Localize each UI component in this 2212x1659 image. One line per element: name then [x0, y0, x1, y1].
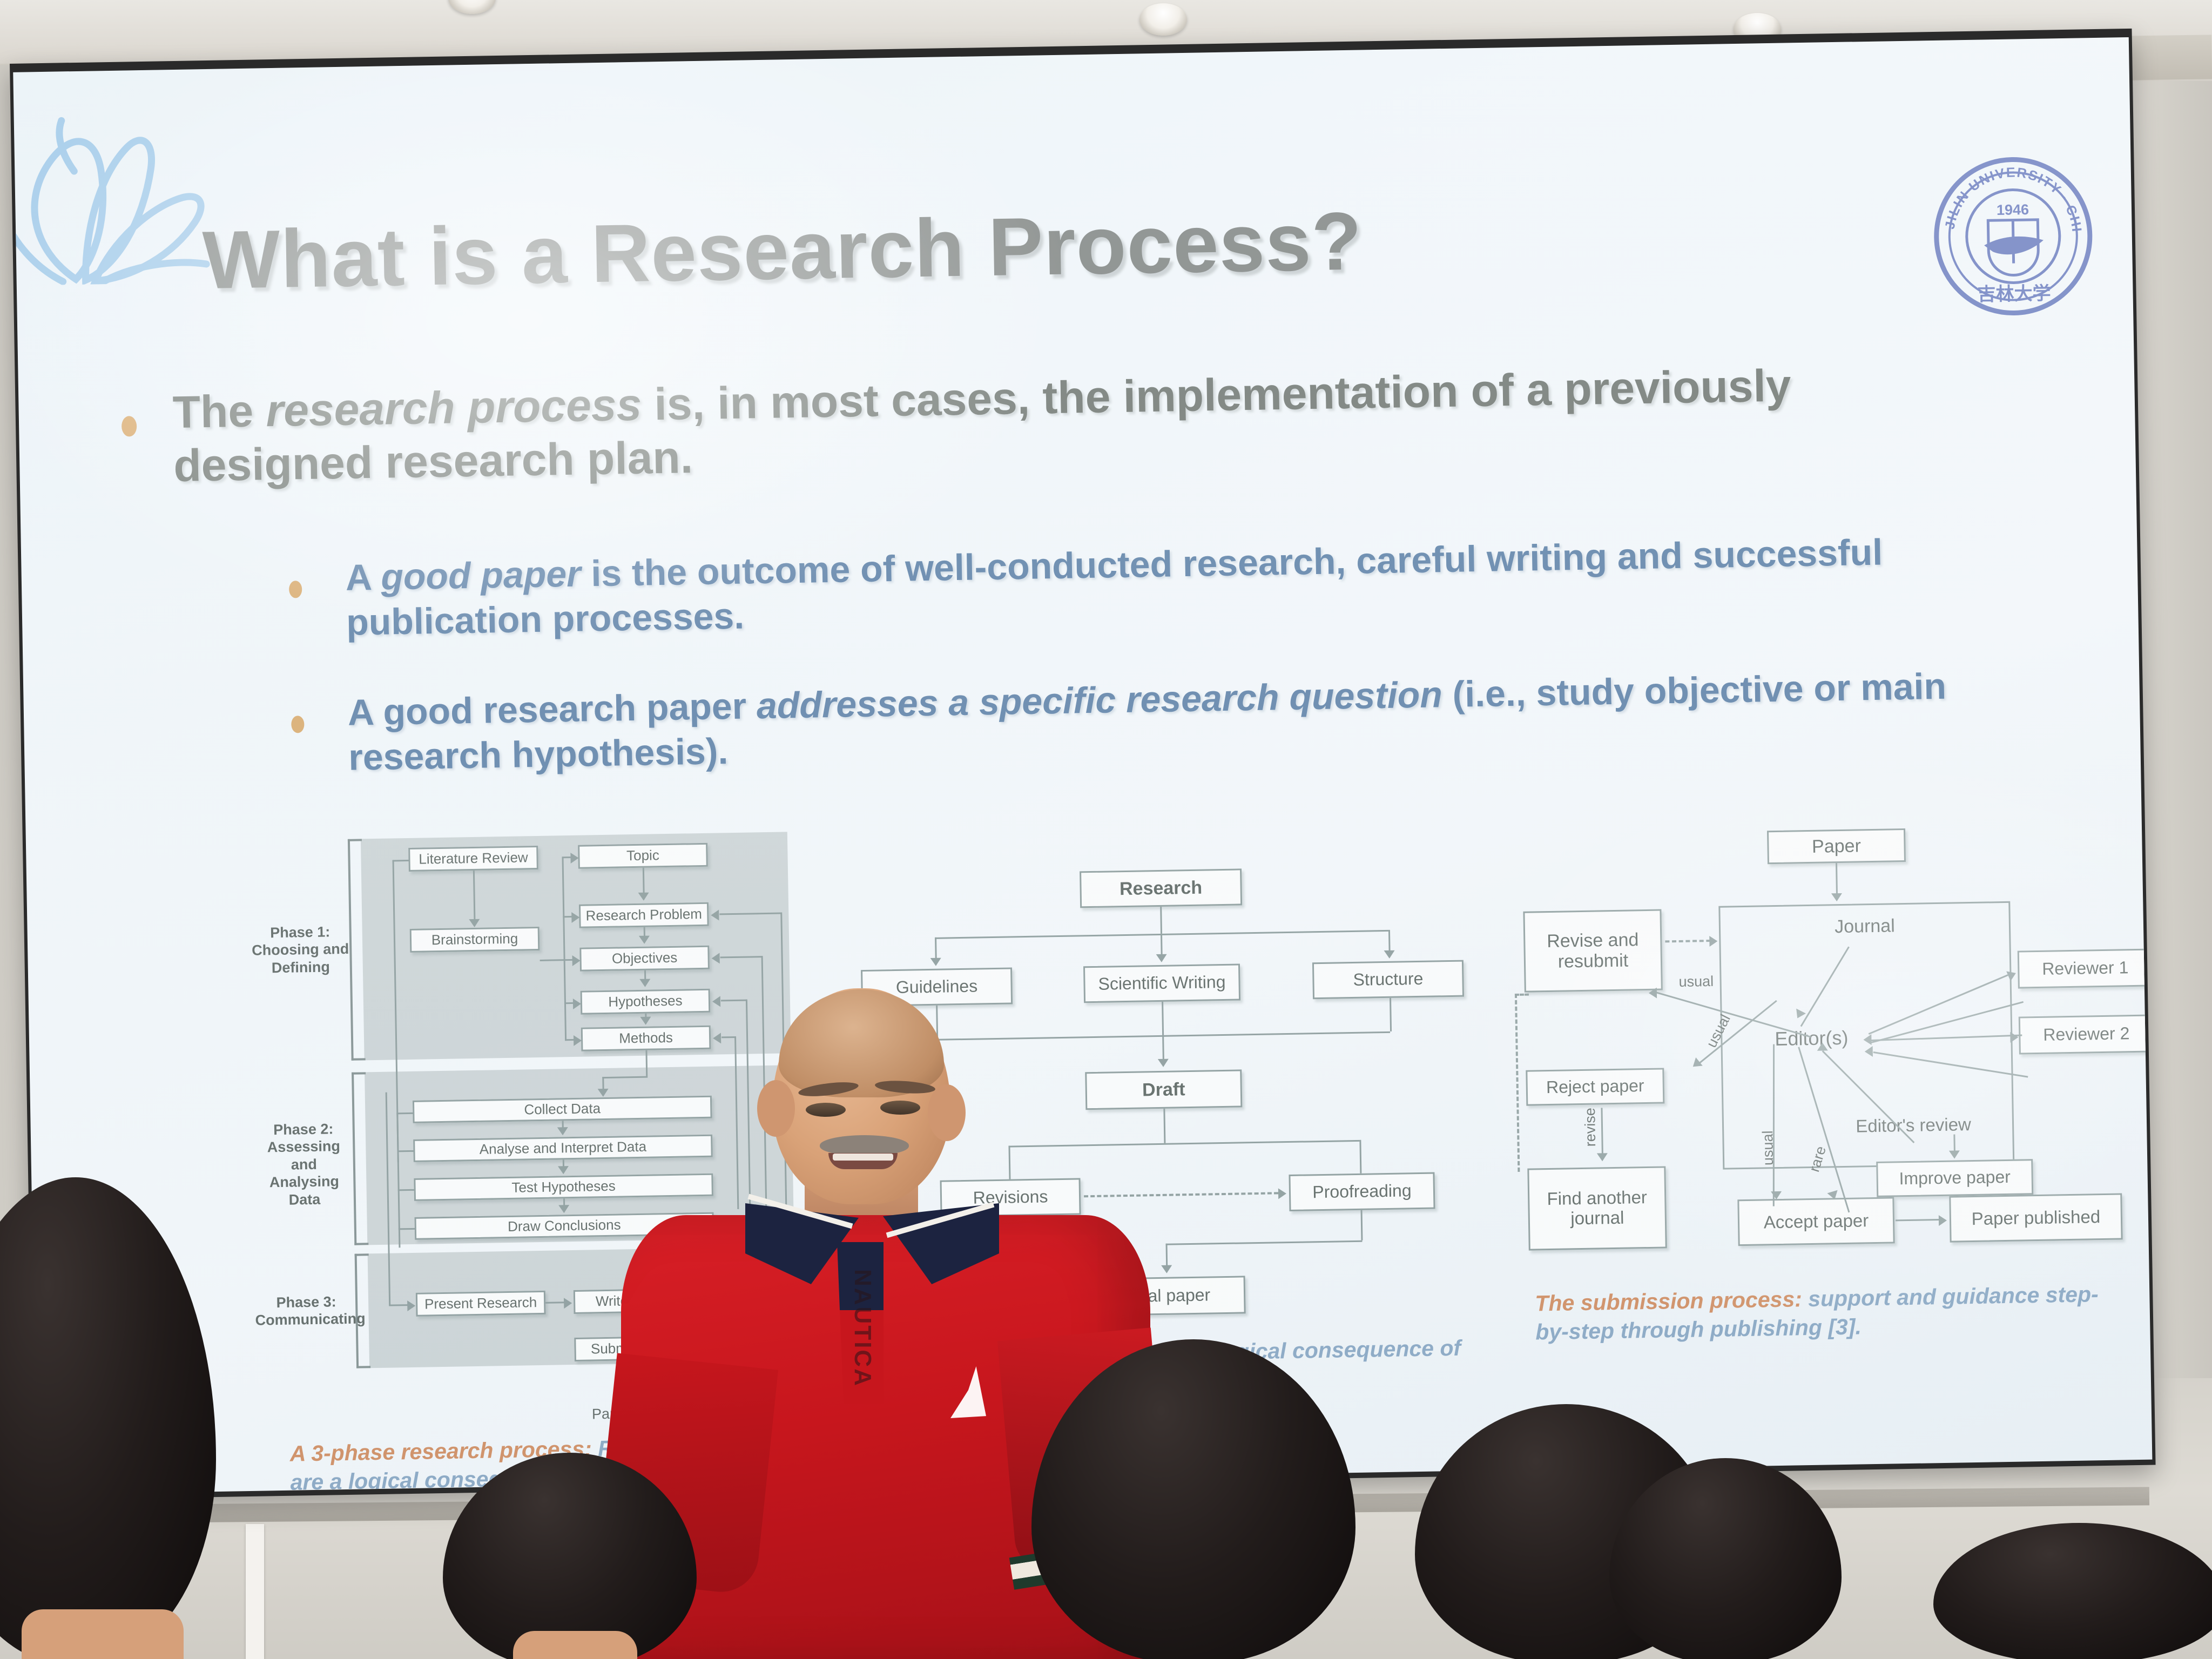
diagram-submission-process: Paper Journal Revise and resubmit Editor… [1516, 793, 2152, 1343]
edge-proof-jog [1166, 1240, 1363, 1245]
node-editors-label: Editor(s) [1746, 1026, 1877, 1051]
edge-research-down [1160, 907, 1162, 934]
arrow-left [711, 909, 719, 920]
edge-to-present-research [389, 1304, 408, 1306]
bullet-dot-sub1 [289, 581, 302, 598]
arrow-right [1278, 1188, 1286, 1199]
bullet-sub1-emphasis: good paper [381, 554, 581, 598]
edge-litreview-left [393, 860, 410, 862]
arrow-right [1709, 936, 1717, 947]
wall-panel [246, 1524, 264, 1659]
node-present-research: Present Research [416, 1291, 546, 1317]
arrow-right [570, 853, 578, 864]
svg-text:JILIN UNIVERSITY · CHINA: JILIN UNIVERSITY · CHINA [1931, 154, 2084, 235]
edge-label-usual-1: usual [1678, 973, 1714, 990]
edge-reject-revise [1601, 1108, 1603, 1155]
ceiling-downlight [1139, 3, 1187, 36]
edge-split-left [935, 938, 937, 960]
arrow-right [574, 1035, 582, 1046]
arrow-down [1597, 1153, 1608, 1161]
arrow-right [2010, 1032, 2018, 1043]
speaker-shirt-brand-text: NAUTICA [844, 1269, 876, 1382]
arrow-up [1817, 1042, 1828, 1050]
node-structure: Structure [1312, 960, 1464, 1000]
edge-structure-down [1390, 998, 1392, 1031]
node-accept-paper: Accept paper [1737, 1197, 1894, 1246]
node-improve-paper: Improve paper [1876, 1159, 2033, 1197]
caption-lead: The submission process: [1535, 1286, 1802, 1316]
node-research-problem: Research Problem [579, 902, 709, 928]
lecture-hall-scene: JILIN UNIVERSITY · CHINA 1946 吉林大学 What … [0, 0, 2212, 1659]
arrow-down [558, 1166, 569, 1174]
phase2-rail-analyse [397, 1150, 414, 1152]
edge-split-right [1388, 930, 1391, 953]
arrow-left [711, 953, 719, 963]
phase-1-label: Phase 1: Choosing and Defining [248, 923, 352, 977]
node-brainstorming: Brainstorming [410, 927, 540, 953]
node-reviewer-1: Reviewer 1 [2018, 948, 2153, 988]
speaker-ear-right [928, 1084, 966, 1141]
arrow-down [1161, 1265, 1172, 1273]
svg-text:1946: 1946 [1997, 201, 2029, 218]
arrow-right [1939, 1215, 1947, 1226]
speaker-teeth [833, 1154, 893, 1161]
arrow-left [1649, 988, 1657, 999]
edge-split-mid [1161, 934, 1163, 956]
node-paper-published: Paper published [1949, 1193, 2122, 1242]
arrow-down [639, 979, 650, 987]
arrow-down [1156, 954, 1167, 962]
arrow-right [571, 912, 579, 923]
phase2-rail-test [398, 1189, 415, 1191]
jilin-university-logo: JILIN UNIVERSITY · CHINA 1946 吉林大学 [1931, 154, 2095, 319]
speaker-eye-left [806, 1103, 846, 1117]
svg-text:吉林大学: 吉林大学 [1977, 282, 2051, 305]
edge-draft-down [1163, 1109, 1165, 1143]
bullet-main-emphasis: research process [266, 379, 642, 436]
arrow-down [557, 1127, 568, 1135]
edge-paper-journal [1836, 863, 1838, 894]
phase2-rail-draw [399, 1228, 416, 1230]
node-revise-and-resubmit: Revise and resubmit [1523, 909, 1662, 993]
edge-draft-right [1359, 1140, 1361, 1174]
bullet-sub2-pre: A good research paper [347, 685, 757, 733]
node-paper: Paper [1767, 828, 1906, 864]
diagram-right-caption: The submission process: support and guid… [1535, 1279, 2130, 1347]
arrow-down [638, 893, 649, 901]
node-proofreading: Proofreading [1289, 1172, 1435, 1211]
arrow-right [572, 955, 581, 966]
edge-accept-published [1896, 1219, 1940, 1221]
edge-label-revise: revise [1582, 1108, 1599, 1147]
edge-proof-down [1361, 1210, 1363, 1240]
edge-label-usual-3: usual [1759, 1130, 1777, 1165]
phase-3-label: Phase 3: Communicating [255, 1293, 358, 1330]
bullet-main: The research process is, in most cases, … [172, 356, 1929, 493]
arrow-down [1831, 893, 1842, 901]
edge-find-journal-top [1515, 994, 1529, 996]
audience-neck-1 [22, 1609, 184, 1659]
arrow-down [1949, 1150, 1960, 1158]
bullet-sub2: A good research paper addresses a specif… [347, 663, 2044, 780]
slide-title: What is a Research Process? [202, 191, 1823, 304]
edge-write-submit-h [545, 1301, 565, 1304]
arrow-left [1690, 1057, 1703, 1071]
arrow-right [407, 1300, 415, 1311]
arrow-down [639, 936, 650, 944]
node-editors-review-label: Editor's review [1827, 1113, 2000, 1137]
arrow-down [1771, 1191, 1782, 1199]
node-literature-review: Literature Review [408, 846, 538, 872]
node-research: Research [1080, 868, 1242, 908]
edge-resubmit-journal [1665, 940, 1710, 942]
edge-find-journal-rail [1515, 994, 1520, 1172]
arrow-right [564, 1298, 572, 1309]
bullet-sub1: A good paper is the outcome of well-cond… [345, 528, 2042, 645]
speaker-eye-right [880, 1101, 920, 1115]
edge-editorreview-improve [1953, 1135, 1955, 1153]
edge-methods-jog-down [602, 1077, 604, 1090]
bullet-dot-sub2 [291, 716, 305, 733]
phase2-rail-collect [396, 1112, 414, 1115]
bullet-dot-main [122, 416, 137, 436]
node-reviewer-2: Reviewer 2 [2019, 1014, 2153, 1054]
bullet-main-pre: The [172, 385, 266, 437]
arrow-down [469, 919, 480, 927]
edge-scientific-down [1162, 1002, 1164, 1061]
edge-editors-accept-usual [1773, 1044, 1775, 1206]
arrow-down [930, 958, 941, 966]
phase-2-label: Phase 2: Assessing and Analysing Data [252, 1120, 356, 1209]
arrow-down [598, 1089, 609, 1097]
speaker-scalp [779, 989, 944, 1097]
lotus-flower-icon [13, 99, 221, 286]
audience-neck-2 [513, 1631, 637, 1659]
arrow-down [1384, 950, 1395, 959]
arrow-down [558, 1205, 569, 1213]
arrow-left [1865, 1046, 1873, 1057]
bullet-sub2-emphasis: addresses a specific research question [756, 674, 1442, 726]
bullet-sub1-pre: A [345, 557, 381, 598]
arrow-right [573, 999, 581, 1009]
edge-proof-final [1166, 1244, 1168, 1267]
node-reject-paper: Reject paper [1526, 1068, 1664, 1105]
speaker-ear-left [757, 1080, 795, 1137]
node-objectives: Objectives [579, 946, 710, 972]
node-find-another-journal: Find another journal [1527, 1166, 1667, 1250]
node-topic: Topic [578, 843, 708, 869]
